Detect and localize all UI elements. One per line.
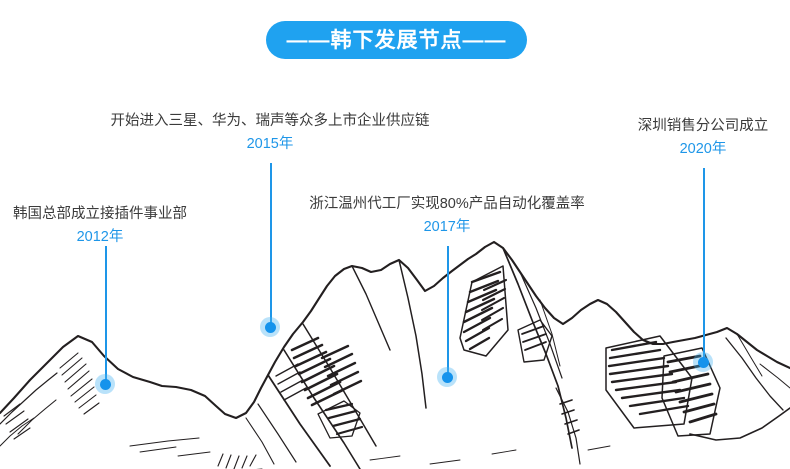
milestone-marker-2015[interactable] (260, 317, 280, 337)
milestone-text-2020: 深圳销售分公司成立 (638, 117, 769, 137)
milestone-marker-2012[interactable] (95, 374, 115, 394)
section-title-pill: ——韩下发展节点—— (266, 21, 527, 59)
milestone-marker-2020[interactable] (693, 352, 713, 372)
leader-line-2012 (105, 246, 107, 383)
milestone-label-2012: 韩国总部成立接插件事业部 2012年 (13, 205, 187, 247)
mountain-range-illustration (0, 238, 790, 469)
leader-line-2020 (703, 168, 705, 362)
infographic-canvas: ——韩下发展节点—— (0, 0, 790, 469)
milestone-year-2017: 2017年 (309, 218, 585, 238)
milestone-label-2017: 浙江温州代工厂实现80%产品自动化覆盖率 2017年 (309, 195, 585, 237)
milestone-year-2015: 2015年 (111, 135, 430, 155)
milestone-text-2012: 韩国总部成立接插件事业部 (13, 205, 187, 225)
leader-line-2015 (270, 163, 272, 327)
milestone-label-2015: 开始进入三星、华为、瑞声等众多上市企业供应链 2015年 (111, 112, 430, 154)
leader-line-2017 (447, 246, 449, 377)
milestone-marker-2017[interactable] (437, 367, 457, 387)
milestone-label-2020: 深圳销售分公司成立 2020年 (638, 117, 769, 159)
milestone-text-2015: 开始进入三星、华为、瑞声等众多上市企业供应链 (111, 112, 430, 132)
page-title: ——韩下发展节点—— (287, 30, 507, 51)
milestone-year-2020: 2020年 (638, 140, 769, 160)
milestone-text-2017: 浙江温州代工厂实现80%产品自动化覆盖率 (309, 195, 585, 215)
milestone-year-2012: 2012年 (13, 228, 187, 248)
